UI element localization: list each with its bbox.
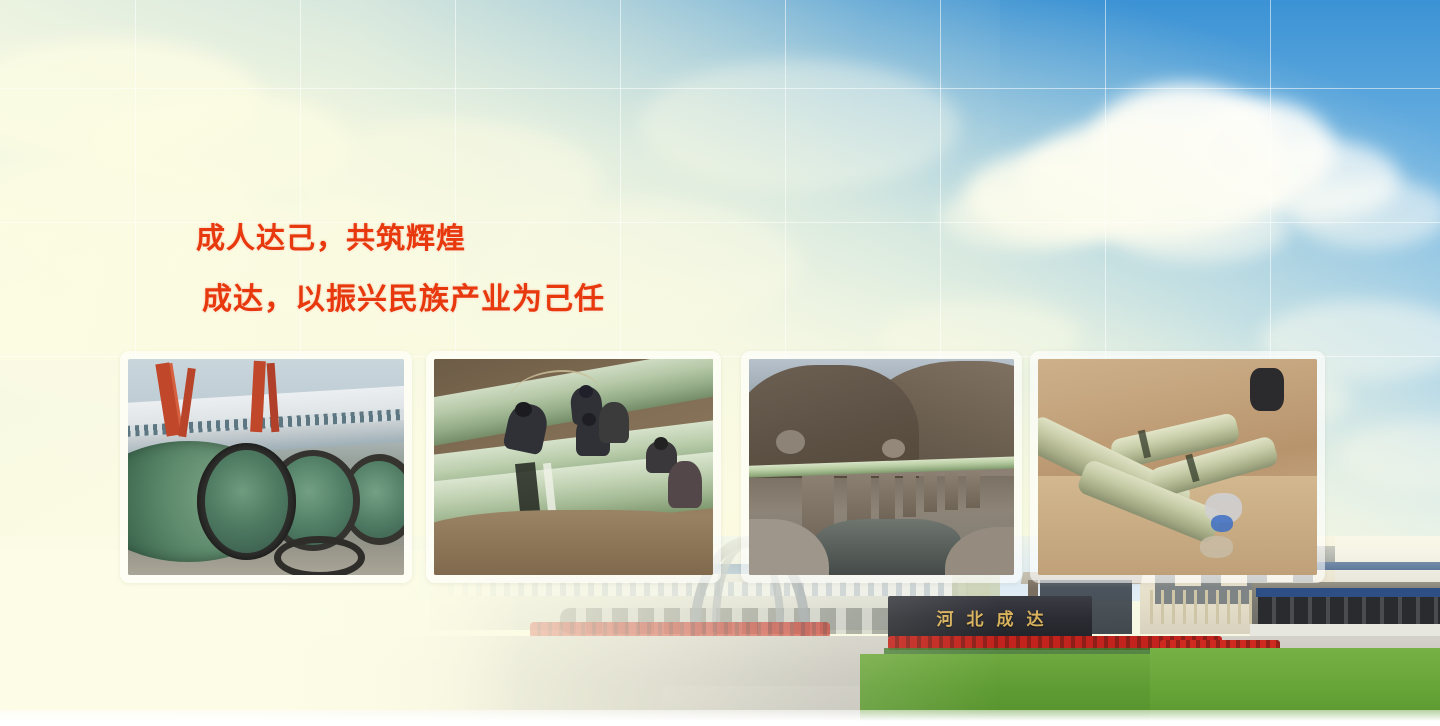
shadow-shape bbox=[1250, 368, 1283, 411]
debris-shape bbox=[1211, 515, 1233, 532]
river-shape bbox=[813, 519, 961, 575]
stone-pier-shape bbox=[966, 469, 979, 508]
shed-blue-band bbox=[1256, 588, 1440, 597]
thumbnail-pipeline-trench-installation[interactable] bbox=[426, 351, 721, 583]
stone-pier-shape bbox=[903, 469, 916, 517]
debris-shape bbox=[1200, 536, 1233, 558]
thumbnail-frp-pipes-factory-yard[interactable] bbox=[120, 351, 412, 583]
bottom-white-strip bbox=[0, 710, 1440, 726]
pipe-ring-shape bbox=[274, 536, 365, 575]
thumbnail-pipeline-river-crossing[interactable] bbox=[741, 351, 1022, 583]
pipe-bore-shape bbox=[205, 450, 288, 554]
sign-char-4: 达 bbox=[1027, 605, 1044, 630]
worker-head bbox=[515, 402, 532, 417]
excavated-soil-shape bbox=[434, 510, 713, 575]
stone-pier-shape bbox=[924, 469, 937, 512]
fence bbox=[1150, 590, 1260, 624]
stone-pier-shape bbox=[945, 469, 958, 510]
boulder-shape bbox=[776, 430, 805, 454]
headline-line-1: 成人达己，共筑辉煌 bbox=[196, 222, 605, 256]
worker-figure bbox=[668, 461, 701, 509]
headline-block: 成人达己，共筑辉煌 成达，以振兴民族产业为己任 bbox=[196, 222, 605, 317]
photo-pipeline-trench-installation bbox=[434, 359, 713, 575]
hero-banner: 河 北 成 达 成人达己，共筑辉煌 成达，以振兴民族产业为己任 bbox=[0, 0, 1440, 726]
photo-frp-pipes-factory-yard bbox=[128, 359, 404, 575]
photo-sand-trench-curved-pipes bbox=[1038, 359, 1317, 575]
headline-line-2: 成达，以振兴民族产业为己任 bbox=[202, 283, 605, 317]
photo-pipeline-river-crossing bbox=[749, 359, 1014, 575]
worker-head bbox=[579, 385, 593, 398]
worker-head bbox=[582, 413, 596, 426]
stone-pier-shape bbox=[879, 469, 895, 521]
thumbnail-sand-trench-curved-pipes[interactable] bbox=[1030, 351, 1325, 583]
shed-openings bbox=[1258, 597, 1440, 625]
worker-figure bbox=[599, 402, 630, 443]
worker-head bbox=[654, 437, 668, 450]
